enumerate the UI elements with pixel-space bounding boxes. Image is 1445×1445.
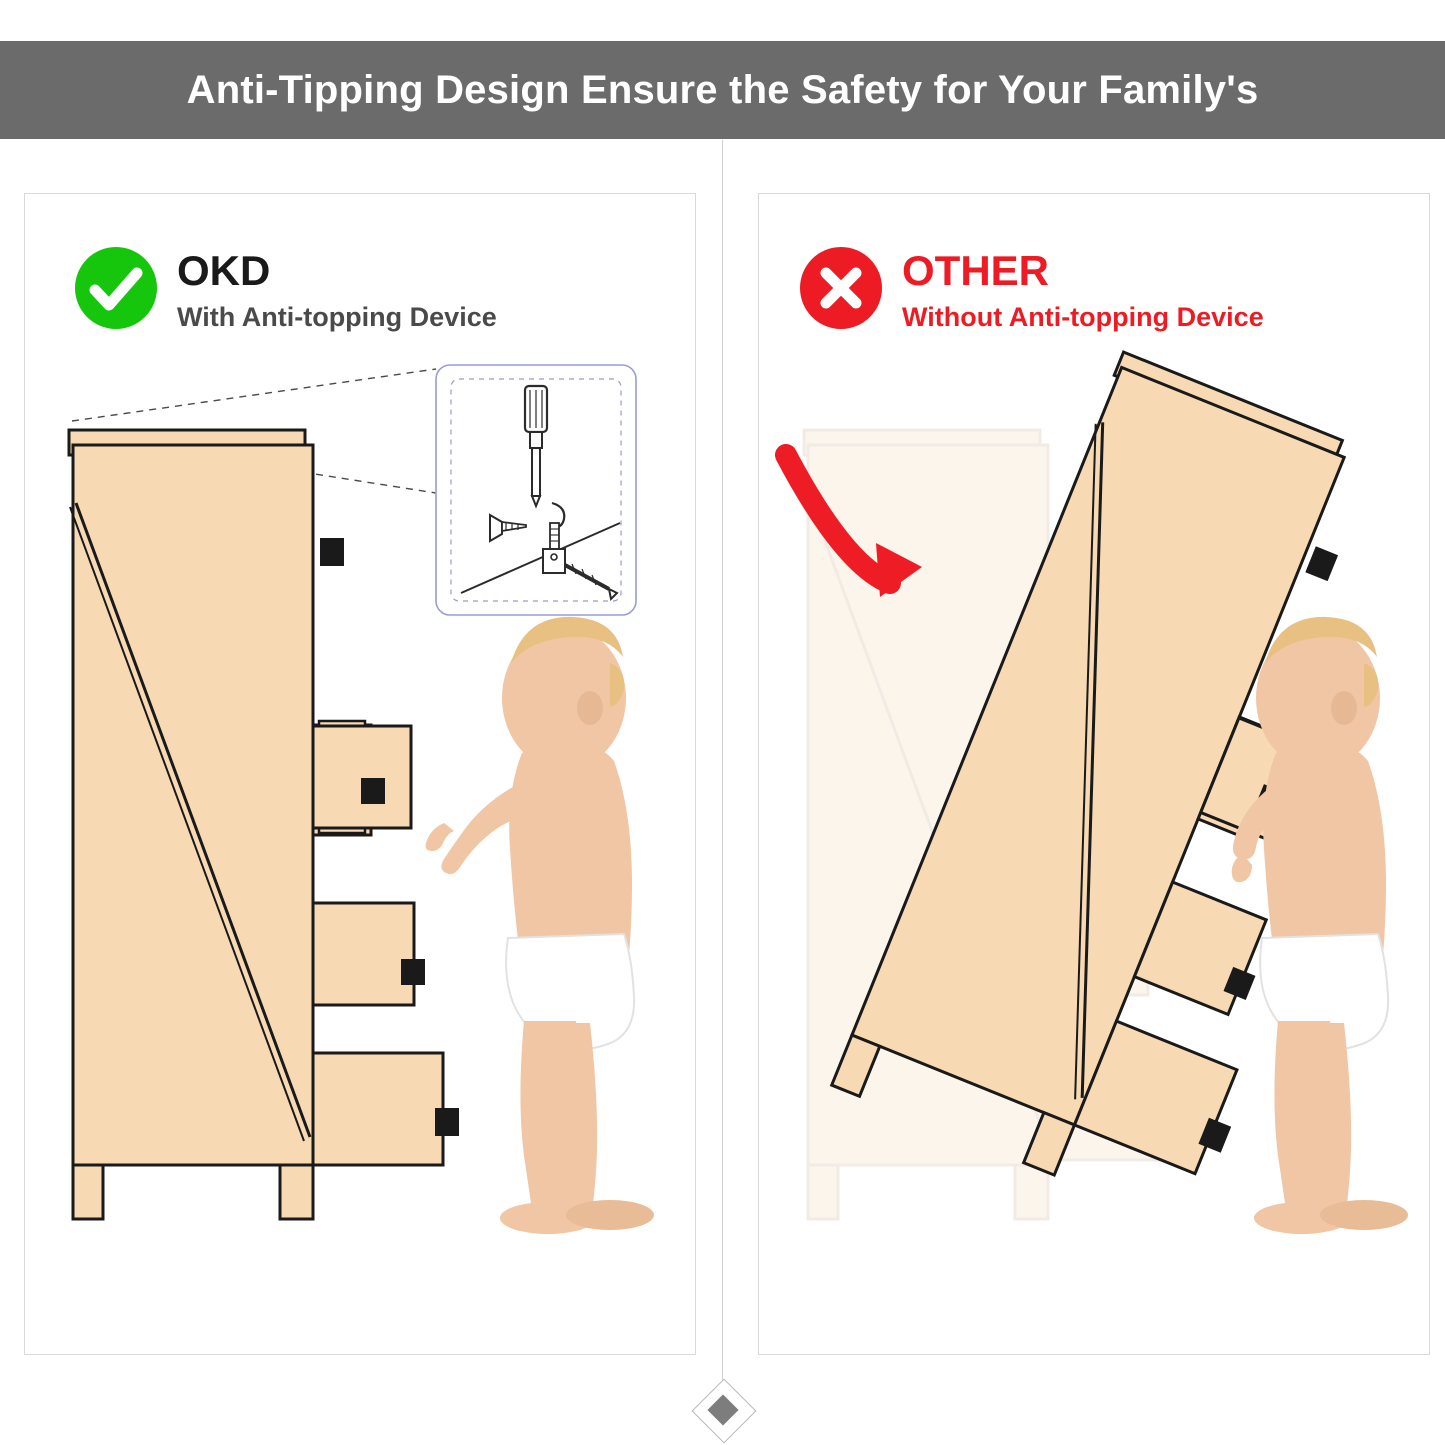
wall-bracket-icon [543, 549, 565, 573]
illustration-tipping [758, 193, 1430, 1355]
toddler-standing [426, 617, 654, 1234]
drawer-3 [313, 903, 425, 1005]
badge-good-subtitle: With Anti-topping Device [177, 303, 497, 333]
badge-good-text: OKD With Anti-topping Device [177, 247, 497, 333]
badge-good-title: OKD [177, 249, 497, 293]
badge-bad-title: OTHER [902, 249, 1264, 293]
secured-dresser-svg [24, 193, 696, 1355]
badge-bad-text: OTHER Without Anti-topping Device [902, 247, 1264, 333]
drawer-2 [313, 726, 411, 828]
illustration-secured [24, 193, 696, 1355]
bracket-screw-icon [550, 523, 559, 549]
cross-circle-icon [800, 247, 882, 329]
header-banner: Anti-Tipping Design Ensure the Safety fo… [0, 41, 1445, 139]
page-title: Anti-Tipping Design Ensure the Safety fo… [187, 68, 1259, 113]
badge-bad-subtitle: Without Anti-topping Device [902, 303, 1264, 333]
tipping-dresser-svg [758, 193, 1430, 1355]
dresser-upright [69, 430, 459, 1219]
drawer-4 [313, 1053, 459, 1165]
page-root: Anti-Tipping Design Ensure the Safety fo… [0, 0, 1445, 1445]
badge-bad: OTHER Without Anti-topping Device [800, 247, 1264, 333]
diamond-ornament [692, 1388, 754, 1434]
center-divider [722, 140, 723, 1392]
check-circle-icon [75, 247, 157, 329]
badge-good: OKD With Anti-topping Device [75, 247, 497, 333]
